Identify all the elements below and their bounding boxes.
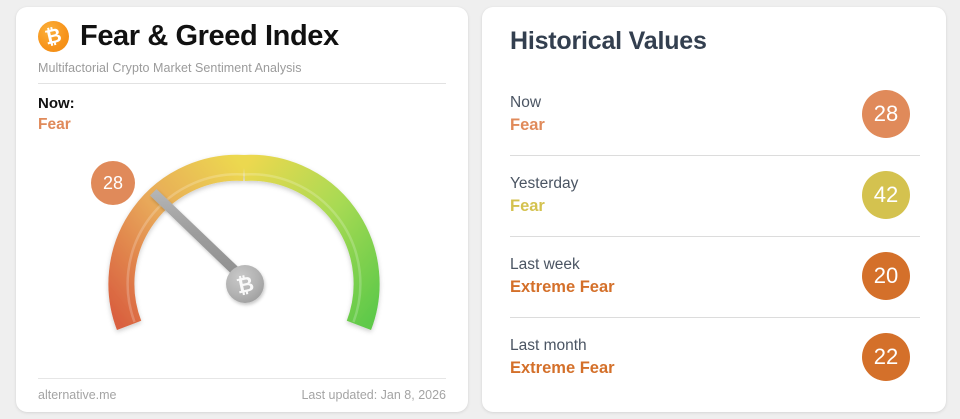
row-classification: Fear [510, 116, 545, 135]
card-header: ₿ Fear & Greed Index [38, 21, 446, 52]
page-title: Fear & Greed Index [80, 21, 339, 51]
row-text: Last month Extreme Fear [510, 337, 615, 378]
row-period-label: Last week [510, 256, 615, 274]
row-classification: Extreme Fear [510, 278, 615, 297]
gauge-container: ₿ 28 [38, 132, 446, 378]
bitcoin-icon: ₿ [38, 21, 69, 52]
row-classification: Fear [510, 197, 578, 216]
source-link[interactable]: alternative.me [38, 388, 117, 402]
gauge-chart: ₿ [78, 132, 418, 362]
gauge-value-text: 28 [103, 173, 123, 194]
bitcoin-glyph: ₿ [43, 24, 63, 47]
table-row[interactable]: Last month Extreme Fear 22 [510, 318, 920, 398]
table-row[interactable]: Yesterday Fear 42 [510, 156, 920, 237]
gauge-value-bubble: 28 [91, 161, 135, 205]
current-reading: Now: Fear [38, 94, 446, 136]
row-classification: Extreme Fear [510, 359, 615, 378]
card-footer: alternative.me Last updated: Jan 8, 2026 [38, 379, 446, 402]
table-row[interactable]: Last week Extreme Fear 20 [510, 237, 920, 318]
fear-greed-dashboard: ₿ Fear & Greed Index Multifactorial Cryp… [0, 0, 960, 419]
fear-greed-index-card: ₿ Fear & Greed Index Multifactorial Cryp… [16, 7, 468, 412]
panel-title: Historical Values [510, 27, 920, 56]
status-badge: 20 [862, 252, 910, 300]
historical-values-card: Historical Values Now Fear 28 Yesterday … [482, 7, 946, 412]
page-subtitle: Multifactorial Crypto Market Sentiment A… [38, 61, 446, 75]
row-text: Now Fear [510, 94, 545, 135]
row-text: Yesterday Fear [510, 175, 578, 216]
status-badge: 42 [862, 171, 910, 219]
row-period-label: Last month [510, 337, 615, 355]
historical-values-list: Now Fear 28 Yesterday Fear 42 Last week … [510, 75, 920, 398]
row-period-label: Now [510, 94, 545, 112]
row-period-label: Yesterday [510, 175, 578, 193]
header-divider [38, 83, 446, 84]
last-updated-text: Last updated: Jan 8, 2026 [301, 388, 446, 402]
status-badge: 22 [862, 333, 910, 381]
row-text: Last week Extreme Fear [510, 256, 615, 297]
table-row[interactable]: Now Fear 28 [510, 75, 920, 156]
status-badge: 28 [862, 90, 910, 138]
now-label: Now: [38, 94, 446, 114]
gauge-hub: ₿ [226, 265, 264, 303]
